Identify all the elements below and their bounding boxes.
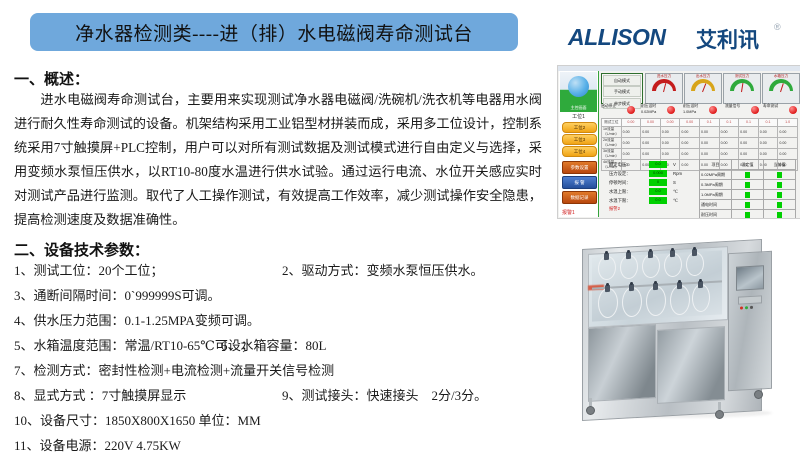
- hmi-sidebar-header: 主控画面: [560, 104, 597, 112]
- hmi-parameter-row: 水温上限：0.0℃: [609, 187, 691, 196]
- spec-item-right: 2、驱动方式：变频水泵恒压供水。: [282, 258, 484, 283]
- hmi-table-cell: 0.00: [699, 137, 719, 148]
- hmi-mode-option[interactable]: 手动模式: [603, 86, 641, 97]
- hmi-table-cell: 0.00: [621, 148, 641, 159]
- table-row: 1.0MPa周期: [700, 190, 796, 200]
- hmi-main-area: 自动模式手动模式单步模式 进水压力出水压力测试压力水箱压力 启动停止耐压设时0.…: [599, 72, 800, 217]
- hmi-cycle-setvalue-cell[interactable]: [732, 210, 764, 220]
- hmi-signal-label: 寿命测试: [763, 104, 778, 110]
- hmi-parameter-value[interactable]: 0.000: [649, 170, 667, 176]
- hmi-cycle-table: 项目设定值当前值 0.02MPa周期0.3MPa周期1.0MPa周期通电时间耐压…: [699, 159, 796, 219]
- hmi-parameter-row: 压力设定：0.000Rpm: [609, 169, 691, 178]
- hmi-table-row-header: 1#流量（L/min）: [602, 126, 622, 137]
- machine-solenoid-valve: [604, 253, 609, 260]
- hmi-value-chip: [745, 172, 750, 178]
- machine-control-buttons: [738, 295, 762, 304]
- hmi-cycle-currentvalue-cell[interactable]: [764, 200, 796, 210]
- hmi-cycle-setvalue-cell[interactable]: [732, 200, 764, 210]
- hmi-cycle-table-header: 设定值: [732, 160, 764, 170]
- hmi-parameter-label: 停顿时间：: [609, 178, 630, 187]
- hmi-signal-lamp-icon[interactable]: [709, 106, 717, 114]
- brand-logo: ALLISON 艾利讯 ®: [568, 22, 794, 56]
- hmi-table-cell: 0.00: [660, 137, 680, 148]
- hmi-table-cell: 0.00: [641, 137, 661, 148]
- hmi-logo-icon: [560, 72, 597, 104]
- hmi-cycle-setvalue-cell[interactable]: [732, 170, 764, 180]
- hmi-table-column-header: 0.00: [641, 119, 661, 127]
- machine-solenoid-valve: [698, 281, 703, 288]
- hmi-signal-label: 耐压设时: [683, 104, 698, 110]
- spec-row: 5、水箱温度范围：常温/RT10-65℃可设；6、水箱容量：80L: [14, 333, 549, 358]
- hmi-parameter-panel: 额定电压：0.0V压力设定：0.000Rpm停顿时间：0S水温上限：0.0℃水温…: [609, 160, 691, 212]
- machine-caster: [586, 406, 595, 415]
- overview-paragraph: 进水电磁阀寿命测试台，主要用来实现测试净水器电磁阀/洗碗机/洗衣机等电器用水阀进…: [14, 88, 542, 232]
- hmi-value-chip: [745, 192, 750, 198]
- hmi-signal-lamp-icon[interactable]: [789, 106, 797, 114]
- spec-row: 1、测试工位：20个工位；2、驱动方式：变频水泵恒压供水。: [14, 258, 549, 283]
- hmi-cycle-row-label: 0.02MPa周期: [700, 170, 732, 180]
- spec-list: 1、测试工位：20个工位；2、驱动方式：变频水泵恒压供水。3、通断间隔时间：0`…: [14, 258, 549, 458]
- slide-title-banner: 净水器检测类----进（排）水电磁阀寿命测试台: [30, 13, 518, 51]
- brand-wordmark: ALLISON: [568, 24, 665, 51]
- gauge-dial-icon: [730, 79, 754, 93]
- hmi-table-cell: 0.00: [699, 126, 719, 137]
- hmi-value-chip: [777, 202, 782, 208]
- hmi-parameter-label: 水温上限：: [609, 187, 630, 196]
- gauge-dial-icon: [769, 79, 793, 93]
- page-title: 净水器检测类----进（排）水电磁阀寿命测试台: [75, 19, 473, 46]
- hmi-value-chip: [745, 212, 750, 218]
- hmi-cycle-table-header: 项目: [700, 160, 732, 170]
- spec-item-left: 3、通断间隔时间：0`999999S可调。: [14, 283, 221, 308]
- hmi-parameter-value[interactable]: 0.0: [649, 161, 667, 167]
- hmi-table-cell: 0.00: [739, 126, 759, 137]
- hmi-table-column-header: 0.1: [739, 119, 759, 127]
- hmi-table-cell: 0.00: [758, 126, 778, 137]
- hmi-table-row-header: 2#流量（L/min）: [602, 137, 622, 148]
- hmi-cycle-currentvalue-cell[interactable]: [764, 180, 796, 190]
- hmi-table-cell: 0.00: [660, 148, 680, 159]
- hmi-station-button[interactable]: 工位2: [562, 122, 597, 133]
- gauge-dial-icon: [652, 79, 676, 93]
- hmi-table-cell: 0.00: [739, 148, 759, 159]
- hmi-gauge: 水箱压力: [762, 73, 800, 104]
- hmi-alarm2-text: 报警2: [609, 206, 691, 212]
- hmi-signal-lamp-icon[interactable]: [667, 106, 675, 114]
- hmi-parameter-unit: Rpm: [673, 169, 682, 178]
- hmi-alarm-text: 报警1: [562, 209, 575, 216]
- content-column: 净水器检测类----进（排）水电磁阀寿命测试台 一、概述： 进水电磁阀寿命测试台…: [0, 0, 556, 450]
- spec-item-left: 11、设备电源：220V 4.75KW: [14, 433, 181, 458]
- hmi-gauge: 出水压力: [684, 73, 722, 104]
- hmi-table-cell: 0.00: [739, 137, 759, 148]
- hmi-parameter-label: 额定电压：: [609, 160, 630, 169]
- hmi-table-corner: 测试工位: [602, 119, 622, 127]
- hmi-table-cell: 0.00: [621, 126, 641, 137]
- hmi-action-button[interactable]: 报 警: [562, 176, 597, 189]
- spec-item-left: 10、设备尺寸：1850X800X1650 单位：MM: [14, 408, 261, 433]
- hmi-table-cell: 0.00: [719, 137, 739, 148]
- spec-row: 7、检测方式：密封性检测+电流检测+流量开关信号检测: [14, 358, 549, 383]
- machine-photo: [558, 222, 798, 448]
- machine-lower-door-right: [657, 326, 725, 404]
- hmi-parameter-unit: V: [673, 160, 676, 169]
- hmi-table-column-header: 0.1: [719, 119, 739, 127]
- machine-solenoid-valve: [692, 249, 697, 256]
- hmi-cycle-currentvalue-cell[interactable]: [764, 190, 796, 200]
- machine-lower-door-left: [588, 324, 656, 402]
- hmi-table-cell: 0.00: [680, 126, 700, 137]
- spec-row: 4、供水压力范围：0.1-1.25MPA变频可调。: [14, 308, 549, 333]
- hmi-signal-sublabel: 1.0MPa: [683, 110, 698, 116]
- hmi-station-button[interactable]: 工位3: [562, 134, 597, 145]
- hmi-logo-globe-icon: [568, 76, 589, 97]
- hmi-parameter-row: 水温下限：0.0℃: [609, 196, 691, 205]
- hmi-value-chip: [777, 182, 782, 188]
- machine-solenoid-valve: [605, 285, 610, 292]
- machine-touchscreen: [736, 265, 764, 291]
- hmi-signal-item: 寿命测试: [763, 104, 778, 117]
- spec-item-left: 5、水箱温度范围：常温/RT10-65℃可设；: [14, 333, 254, 358]
- gauge-dial-icon: [691, 79, 715, 93]
- hmi-station-button[interactable]: 工位4: [562, 146, 597, 157]
- hmi-cycle-currentvalue-cell[interactable]: [764, 170, 796, 180]
- hmi-signal-item: 启动停止: [601, 104, 616, 117]
- machine-solenoid-valve: [648, 251, 653, 258]
- hmi-parameter-value[interactable]: 0: [649, 179, 667, 185]
- hmi-table-cell: 0.00: [778, 126, 798, 137]
- hmi-table-cell: 0.00: [699, 148, 719, 159]
- hmi-sidebar: 主控画面 工位1 工位2工位3工位4 参数设置报 警数据记录 报警1: [559, 71, 599, 217]
- hmi-table-cell: 0.00: [758, 148, 778, 159]
- hmi-table-cell: 0.00: [680, 137, 700, 148]
- table-row: 0.3MPa周期: [700, 180, 796, 190]
- hmi-value-chip: [777, 192, 782, 198]
- hmi-signal-label: 启动停止: [601, 104, 616, 110]
- table-row: 0.02MPa周期: [700, 170, 796, 180]
- table-row: 1#流量（L/min）0.000.000.000.000.000.000.000…: [602, 126, 798, 137]
- machine-solenoid-valve: [670, 250, 675, 257]
- spec-item-left: 7、检测方式：密封性检测+电流检测+流量开关信号检测: [14, 358, 334, 383]
- hmi-signal-lamp-icon[interactable]: [627, 106, 635, 114]
- table-row: 耐压时间: [700, 210, 796, 220]
- hmi-table-cell: 0.00: [641, 148, 661, 159]
- media-column: ALLISON 艾利讯 ® 主控画面 工位1 工位2工位3工位4 参数设置报 警…: [556, 0, 800, 450]
- machine-solenoid-valve: [629, 284, 634, 291]
- machine-solenoid-valve: [677, 282, 682, 289]
- hmi-signal-item: 流量信号: [725, 104, 740, 117]
- table-row: 通电时间: [700, 200, 796, 210]
- hmi-parameter-value[interactable]: 0.0: [649, 197, 667, 203]
- hmi-cycle-currentvalue-cell[interactable]: [764, 210, 796, 220]
- hmi-table-row-header: 3#流量（L/min）: [602, 148, 622, 159]
- hmi-table-column-header: 0.1: [758, 119, 778, 127]
- hmi-signal-item: 耐压设时1.0MPa: [683, 104, 698, 117]
- brand-chinese-name: 艾利讯: [696, 24, 759, 54]
- hmi-mode-selector[interactable]: 自动模式手动模式单步模式: [601, 73, 643, 104]
- hmi-parameter-value[interactable]: 0.0: [649, 188, 667, 194]
- spec-item-left: 4、供水压力范围：0.1-1.25MPA变频可调。: [14, 308, 260, 333]
- hmi-table-cell: 0.00: [621, 137, 641, 148]
- hmi-signal-lamp-row: 启动停止耐压设时0.02MPa耐压设时1.0MPa流量信号寿命测试: [599, 104, 800, 117]
- hmi-table-cell: 0.00: [660, 126, 680, 137]
- hmi-action-button[interactable]: 参数设置: [562, 161, 597, 174]
- hmi-action-button[interactable]: 数据记录: [562, 191, 597, 204]
- hmi-value-chip: [777, 212, 782, 218]
- spec-row: 11、设备电源：220V 4.75KW: [14, 433, 549, 458]
- slide-page: 净水器检测类----进（排）水电磁阀寿命测试台 一、概述： 进水电磁阀寿命测试台…: [0, 0, 800, 450]
- table-row: 3#流量（L/min）0.000.000.000.000.000.000.000…: [602, 148, 798, 159]
- hmi-station-label: 工位1: [560, 113, 597, 121]
- hmi-parameter-row: 额定电压：0.0V: [609, 160, 691, 169]
- spec-item-right: 6、水箱容量：80L: [221, 333, 326, 358]
- hmi-table-cell: 0.00: [719, 126, 739, 137]
- spec-item-left: 1、测试工位：20个工位；: [14, 258, 164, 283]
- machine-caster: [715, 410, 724, 419]
- hmi-table-column-header: 0.00: [660, 119, 680, 127]
- hmi-signal-label: 耐压设时: [641, 104, 656, 110]
- machine-solenoid-valve: [653, 283, 658, 290]
- hmi-value-chip: [745, 202, 750, 208]
- hmi-cycle-setvalue-cell[interactable]: [732, 190, 764, 200]
- hmi-table-column-header: 0.00: [621, 119, 641, 127]
- hmi-table-column-header: 1.0: [778, 119, 798, 127]
- hmi-signal-label: 流量信号: [725, 104, 740, 110]
- hmi-parameter-unit: S: [673, 178, 676, 187]
- table-row: 2#流量（L/min）0.000.000.000.000.000.000.000…: [602, 137, 798, 148]
- spec-item-right: 9、测试接头：快速接头 2分/3分。: [282, 383, 487, 408]
- registered-trademark-icon: ®: [774, 22, 781, 32]
- section-heading-overview: 一、概述：: [14, 68, 89, 89]
- hmi-parameter-label: 水温下限：: [609, 196, 630, 205]
- section-heading-specs: 二、设备技术参数：: [14, 239, 149, 260]
- hmi-parameter-unit: ℃: [673, 187, 678, 196]
- hmi-signal-lamp-icon[interactable]: [751, 106, 759, 114]
- hmi-value-chip: [777, 172, 782, 178]
- hmi-table-cell: 0.00: [758, 137, 778, 148]
- hmi-mode-option[interactable]: 自动模式: [603, 75, 641, 86]
- hmi-gauge: 测试压力: [723, 73, 761, 104]
- machine-solenoid-valve: [626, 252, 631, 259]
- hmi-screenshot: 主控画面 工位1 工位2工位3工位4 参数设置报 警数据记录 报警1 自动模式手…: [557, 65, 800, 219]
- spec-row: 10、设备尺寸：1850X800X1650 单位：MM: [14, 408, 549, 433]
- hmi-table-column-header: 0.1: [699, 119, 719, 127]
- machine-caster: [754, 390, 763, 399]
- hmi-cycle-row-label: 通电时间: [700, 200, 732, 210]
- hmi-table-column-header: 0.00: [680, 119, 700, 127]
- spec-item-left: 8、显式方式 ：7寸触摸屏显示: [14, 383, 186, 408]
- hmi-table-cell: 0.00: [680, 148, 700, 159]
- hmi-table-cell: 0.00: [641, 126, 661, 137]
- spec-row: 8、显式方式 ：7寸触摸屏显示9、测试接头：快速接头 2分/3分。: [14, 383, 549, 408]
- hmi-gauge: 进水压力: [645, 73, 683, 104]
- hmi-table-cell: 0.00: [719, 148, 739, 159]
- hmi-signal-item: 耐压设时0.02MPa: [641, 104, 656, 117]
- hmi-cycle-row-label: 1.0MPa周期: [700, 190, 732, 200]
- spec-row: 3、通断间隔时间：0`999999S可调。: [14, 283, 549, 308]
- hmi-cycle-table-header: 当前值: [764, 160, 796, 170]
- hmi-value-chip: [745, 182, 750, 188]
- hmi-cycle-row-label: 0.3MPa周期: [700, 180, 732, 190]
- hmi-parameter-row: 停顿时间：0S: [609, 178, 691, 187]
- hmi-signal-sublabel: 0.02MPa: [641, 110, 656, 116]
- hmi-cycle-setvalue-cell[interactable]: [732, 180, 764, 190]
- hmi-table-cell: 0.00: [778, 137, 798, 148]
- hmi-table-cell: 0.00: [778, 148, 798, 159]
- hmi-parameter-label: 压力设定：: [609, 169, 630, 178]
- hmi-parameter-unit: ℃: [673, 196, 678, 205]
- hmi-cycle-row-label: 耐压时间: [700, 210, 732, 220]
